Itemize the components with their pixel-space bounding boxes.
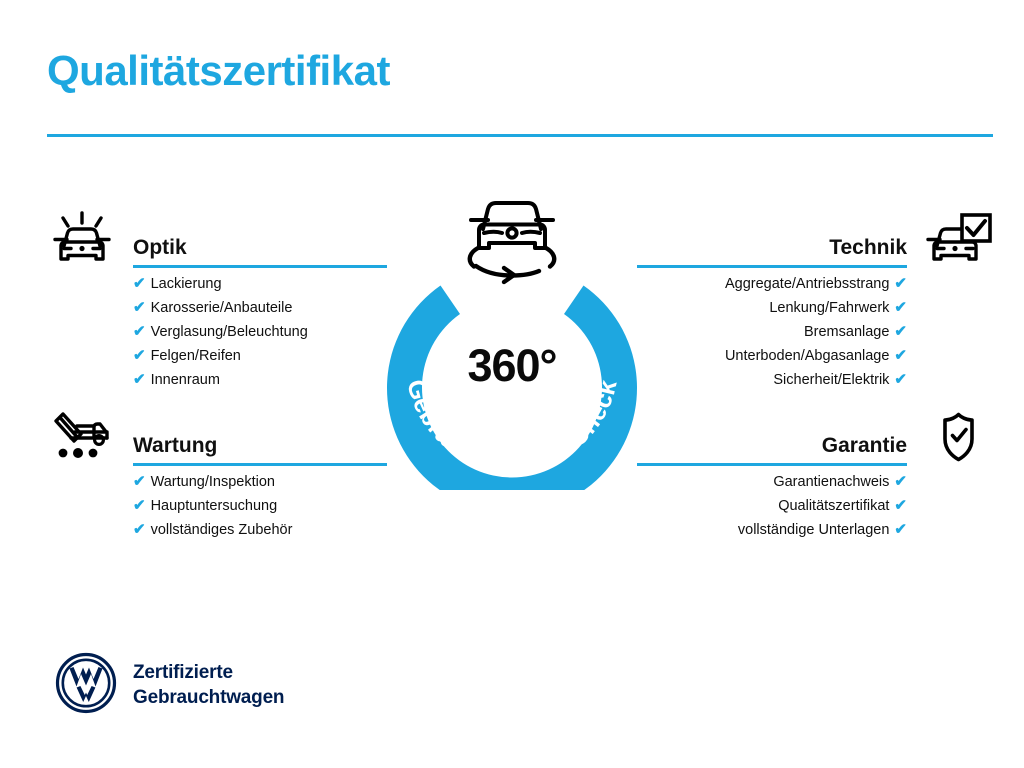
list-item: Aggregate/Antriebsstrang✔ — [637, 272, 993, 296]
check-icon: ✔ — [894, 323, 907, 340]
section-title-garantie: Garantie — [822, 434, 907, 458]
check-icon: ✔ — [894, 347, 907, 364]
list-item: ✔Innenraum — [47, 368, 387, 392]
list-item-label: Sicherheit/Elektrik — [773, 372, 889, 388]
check-icon: ✔ — [894, 275, 907, 292]
list-item: Unterboden/Abgasanlage✔ — [637, 344, 993, 368]
section-title-optik: Optik — [133, 236, 187, 260]
list-item: ✔Wartung/Inspektion — [47, 470, 387, 494]
list-item-label: Bremsanlage — [804, 324, 889, 340]
list-item: Lenkung/Fahrwerk✔ — [637, 296, 993, 320]
list-item: Bremsanlage✔ — [637, 320, 993, 344]
title-divider — [47, 134, 993, 137]
section-technik: Technik Aggregate/Antriebsstrang✔ Lenkun… — [637, 210, 993, 392]
car-service-pencil-icon — [47, 408, 117, 468]
page-title: Qualitätszertifikat — [47, 48, 390, 94]
list-item-label: Qualitätszertifikat — [778, 498, 889, 514]
check-list-wartung: ✔Wartung/Inspektion ✔Hauptuntersuchung ✔… — [47, 470, 387, 542]
list-item-label: Lackierung — [151, 276, 222, 292]
list-item: vollständige Unterlagen✔ — [637, 518, 993, 542]
list-item: ✔Verglasung/Beleuchtung — [47, 320, 387, 344]
section-garantie: Garantie Garantienachweis✔ Qualitätszert… — [637, 408, 993, 542]
check-icon: ✔ — [894, 371, 907, 388]
badge-360-gebrauchtwagen-check: Gebrauchtwagen-Check 360° — [368, 190, 656, 490]
list-item-label: vollständiges Zubehör — [151, 522, 293, 538]
section-header-technik: Technik — [637, 210, 993, 272]
vw-logo-block: Zertifizierte Gebrauchtwagen — [55, 650, 375, 720]
check-icon: ✔ — [133, 347, 146, 364]
section-underline-wartung — [133, 463, 387, 466]
section-wartung: Wartung ✔Wartung/Inspektion ✔Hauptunters… — [47, 408, 387, 542]
check-icon: ✔ — [894, 497, 907, 514]
list-item: ✔vollständiges Zubehör — [47, 518, 387, 542]
section-underline-garantie — [637, 463, 907, 466]
check-list-optik: ✔Lackierung ✔Karosserie/Anbauteile ✔Verg… — [47, 272, 387, 392]
vw-text-line1: Zertifizierte — [133, 660, 284, 685]
list-item: ✔Felgen/Reifen — [47, 344, 387, 368]
check-icon: ✔ — [133, 521, 146, 538]
list-item: ✔Lackierung — [47, 272, 387, 296]
section-optik: Optik ✔Lackierung ✔Karosserie/Anbauteile… — [47, 210, 387, 392]
section-title-technik: Technik — [829, 236, 907, 260]
list-item-label: Unterboden/Abgasanlage — [725, 348, 889, 364]
check-icon: ✔ — [133, 275, 146, 292]
car-front-rotate-icon — [460, 190, 564, 286]
check-icon: ✔ — [133, 497, 146, 514]
list-item-label: Hauptuntersuchung — [151, 498, 278, 514]
list-item: Qualitätszertifikat✔ — [637, 494, 993, 518]
vw-text-line2: Gebrauchtwagen — [133, 685, 284, 710]
check-icon: ✔ — [894, 299, 907, 316]
section-header-wartung: Wartung — [47, 408, 387, 470]
check-icon: ✔ — [133, 371, 146, 388]
list-item-label: Aggregate/Antriebsstrang — [725, 276, 889, 292]
list-item: ✔Hauptuntersuchung — [47, 494, 387, 518]
section-underline-technik — [637, 265, 907, 268]
list-item: Sicherheit/Elektrik✔ — [637, 368, 993, 392]
list-item-label: Innenraum — [151, 372, 220, 388]
list-item-label: Wartung/Inspektion — [151, 474, 275, 490]
list-item-label: Felgen/Reifen — [151, 348, 241, 364]
section-header-garantie: Garantie — [637, 408, 993, 470]
check-icon: ✔ — [894, 473, 907, 490]
section-header-optik: Optik — [47, 210, 387, 272]
section-title-wartung: Wartung — [133, 434, 217, 458]
vw-logo-text: Zertifizierte Gebrauchtwagen — [133, 660, 284, 710]
list-item: ✔Karosserie/Anbauteile — [47, 296, 387, 320]
badge-degrees-label: 360° — [368, 340, 656, 392]
section-underline-optik — [133, 265, 387, 268]
check-list-technik: Aggregate/Antriebsstrang✔ Lenkung/Fahrwe… — [637, 272, 993, 392]
check-icon: ✔ — [894, 521, 907, 538]
vw-logo-icon — [55, 652, 117, 714]
list-item-label: Verglasung/Beleuchtung — [151, 324, 308, 340]
car-front-shine-icon — [47, 210, 117, 270]
check-icon: ✔ — [133, 299, 146, 316]
shield-check-icon — [923, 408, 993, 468]
check-icon: ✔ — [133, 323, 146, 340]
check-list-garantie: Garantienachweis✔ Qualitätszertifikat✔ v… — [637, 470, 993, 542]
list-item-label: Karosserie/Anbauteile — [151, 300, 293, 316]
list-item-label: Lenkung/Fahrwerk — [769, 300, 889, 316]
list-item-label: vollständige Unterlagen — [738, 522, 890, 538]
list-item-label: Garantienachweis — [773, 474, 889, 490]
car-front-checkbox-icon — [923, 210, 993, 270]
check-icon: ✔ — [133, 473, 146, 490]
list-item: Garantienachweis✔ — [637, 470, 993, 494]
